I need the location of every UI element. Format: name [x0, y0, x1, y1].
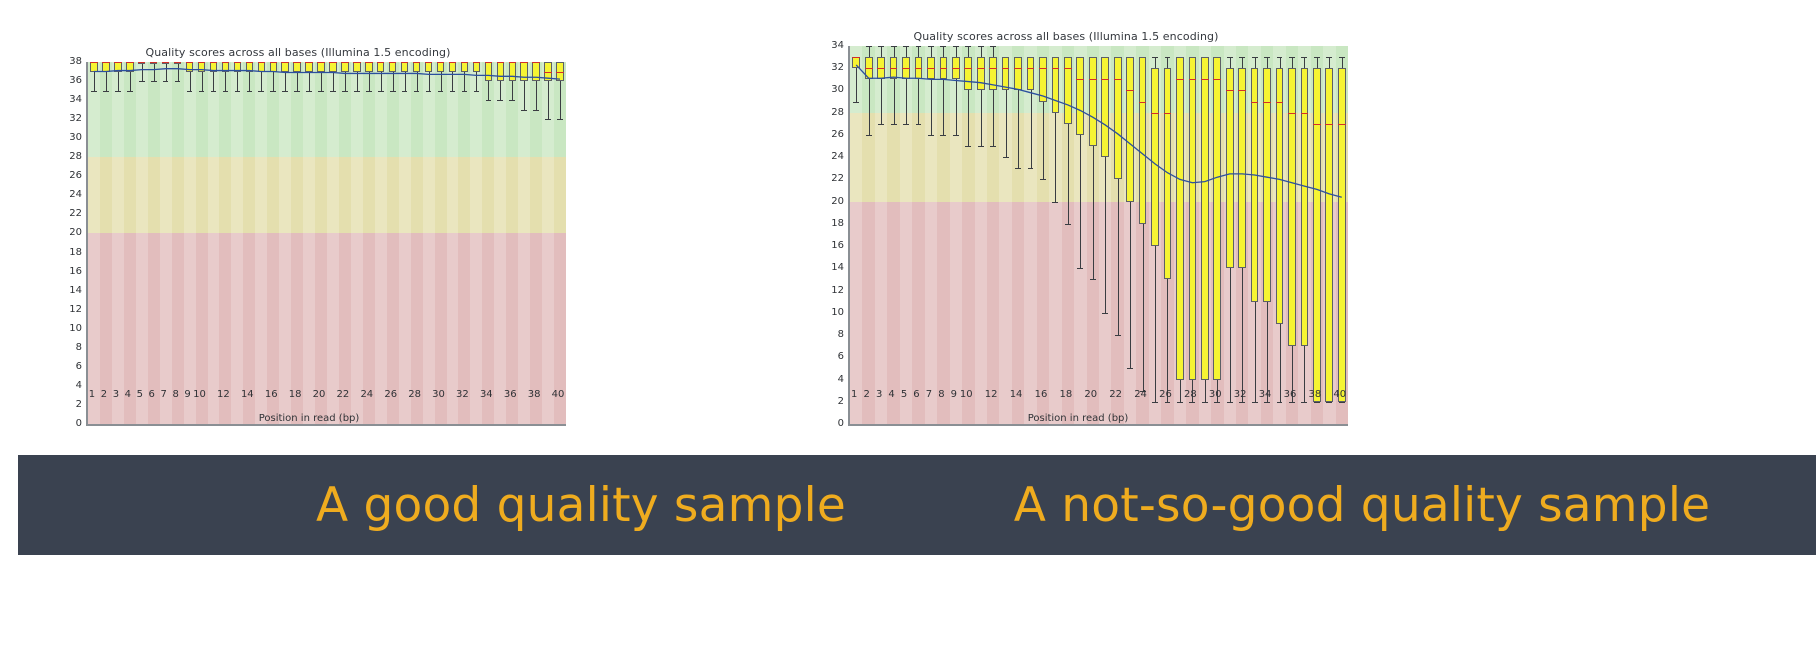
- x-tick-label: 24: [360, 390, 373, 400]
- x-tick-label: 34: [1259, 390, 1272, 400]
- x-tick-label: 6: [913, 390, 919, 400]
- y-tick-label: 14: [831, 263, 844, 273]
- x-tick-label: 3: [876, 390, 882, 400]
- x-tick-label: 36: [504, 390, 517, 400]
- y-tick-label: 20: [831, 197, 844, 207]
- x-tick-label: 3: [113, 390, 119, 400]
- mean-quality-polyline: [94, 69, 560, 79]
- x-tick-label: 5: [901, 390, 907, 400]
- y-tick-label: 32: [831, 63, 844, 73]
- chart-panel-good-quality: Quality scores across all bases (Illumin…: [18, 46, 578, 466]
- x-tick-label: 4: [888, 390, 894, 400]
- x-tick-label: 16: [265, 390, 278, 400]
- x-tick-label: 36: [1284, 390, 1297, 400]
- x-tick-label: 18: [289, 390, 302, 400]
- x-axis-left: Position in read (bp) 123456789101214161…: [52, 388, 566, 426]
- y-tick-label: 16: [69, 267, 82, 277]
- x-tick-label: 12: [985, 390, 998, 400]
- mean-quality-polyline: [856, 65, 1342, 197]
- y-tick-label: 30: [831, 85, 844, 95]
- x-tick-label: 32: [1234, 390, 1247, 400]
- x-tick-label: 14: [1010, 390, 1023, 400]
- x-tick-label: 34: [480, 390, 493, 400]
- y-tick-label: 30: [69, 133, 82, 143]
- x-tick-label: 5: [137, 390, 143, 400]
- x-tick-label: 1: [851, 390, 857, 400]
- x-tick-label: 8: [172, 390, 178, 400]
- chart-title-right: Quality scores across all bases (Illumin…: [766, 30, 1366, 43]
- x-tick-label: 40: [1333, 390, 1346, 400]
- y-tick-label: 10: [69, 324, 82, 334]
- y-tick-label: 6: [838, 352, 844, 362]
- x-tick-label: 14: [241, 390, 254, 400]
- x-tick-label: 22: [337, 390, 350, 400]
- y-tick-label: 4: [838, 375, 844, 385]
- x-tick-label: 9: [184, 390, 190, 400]
- x-axis-right: Position in read (bp) 123456789101214161…: [808, 388, 1348, 426]
- slide-root: Quality scores across all bases (Illumin…: [0, 0, 1816, 668]
- caption-bar-good: A good quality sample: [18, 455, 898, 555]
- plot-canvas-right: [848, 46, 1348, 426]
- y-axis-right: 0246810121416182022242628303234: [818, 46, 848, 426]
- plot-area-right: 0246810121416182022242628303234 Position…: [808, 46, 1348, 426]
- y-tick-label: 12: [69, 305, 82, 315]
- y-tick-label: 26: [69, 171, 82, 181]
- x-tick-label: 30: [1209, 390, 1222, 400]
- x-tick-label: 24: [1134, 390, 1147, 400]
- x-tick-label: 28: [408, 390, 421, 400]
- x-tick-label: 2: [863, 390, 869, 400]
- y-tick-label: 6: [76, 362, 82, 372]
- plot-area-left: 02468101214161820222426283032343638 Posi…: [52, 62, 566, 426]
- x-tick-label: 6: [149, 390, 155, 400]
- x-tick-label: 26: [1159, 390, 1172, 400]
- y-tick-label: 28: [831, 108, 844, 118]
- chart-panel-not-so-good-quality: Quality scores across all bases (Illumin…: [766, 30, 1366, 466]
- y-tick-label: 8: [76, 343, 82, 353]
- x-axis-label-left: Position in read (bp): [52, 413, 566, 424]
- y-tick-label: 24: [69, 190, 82, 200]
- y-tick-label: 24: [831, 152, 844, 162]
- x-tick-label: 20: [313, 390, 326, 400]
- y-tick-label: 18: [831, 219, 844, 229]
- y-tick-label: 18: [69, 248, 82, 258]
- y-axis-left: 02468101214161820222426283032343638: [56, 62, 86, 426]
- x-tick-label: 7: [926, 390, 932, 400]
- mean-quality-line-left: [88, 62, 566, 424]
- x-tick-label: 10: [960, 390, 973, 400]
- x-tick-label: 18: [1060, 390, 1073, 400]
- x-axis-label-right: Position in read (bp): [808, 413, 1348, 424]
- x-tick-label: 12: [217, 390, 230, 400]
- x-tick-label: 1: [89, 390, 95, 400]
- x-tick-label: 2: [101, 390, 107, 400]
- y-tick-label: 26: [831, 130, 844, 140]
- x-tick-label: 22: [1109, 390, 1122, 400]
- x-tick-label: 26: [384, 390, 397, 400]
- x-tick-label: 20: [1084, 390, 1097, 400]
- plot-canvas-left: [86, 62, 566, 426]
- x-tick-label: 32: [456, 390, 469, 400]
- y-tick-label: 28: [69, 152, 82, 162]
- x-tick-label: 16: [1035, 390, 1048, 400]
- y-tick-label: 22: [69, 209, 82, 219]
- x-tick-label: 38: [1309, 390, 1322, 400]
- caption-text-not-so-good: A not-so-good quality sample: [1014, 482, 1710, 529]
- y-tick-label: 8: [838, 330, 844, 340]
- mean-quality-line-right: [850, 46, 1348, 424]
- caption-text-good: A good quality sample: [316, 482, 846, 529]
- y-tick-label: 36: [69, 76, 82, 86]
- x-tick-label: 38: [528, 390, 541, 400]
- y-tick-label: 34: [831, 41, 844, 51]
- y-tick-label: 20: [69, 228, 82, 238]
- y-tick-label: 14: [69, 286, 82, 296]
- x-tick-label: 7: [160, 390, 166, 400]
- caption-bar-not-so-good: A not-so-good quality sample: [898, 455, 1816, 555]
- x-tick-label: 30: [432, 390, 445, 400]
- x-tick-label: 8: [938, 390, 944, 400]
- y-tick-label: 22: [831, 174, 844, 184]
- y-tick-label: 10: [831, 308, 844, 318]
- x-tick-label: 28: [1184, 390, 1197, 400]
- x-tick-label: 9: [951, 390, 957, 400]
- chart-title-left: Quality scores across all bases (Illumin…: [18, 46, 578, 59]
- x-tick-label: 40: [552, 390, 565, 400]
- x-tick-label: 4: [125, 390, 131, 400]
- y-tick-label: 34: [69, 95, 82, 105]
- x-tick-label: 10: [193, 390, 206, 400]
- y-tick-label: 16: [831, 241, 844, 251]
- y-tick-label: 32: [69, 114, 82, 124]
- y-tick-label: 12: [831, 286, 844, 296]
- y-tick-label: 38: [69, 57, 82, 67]
